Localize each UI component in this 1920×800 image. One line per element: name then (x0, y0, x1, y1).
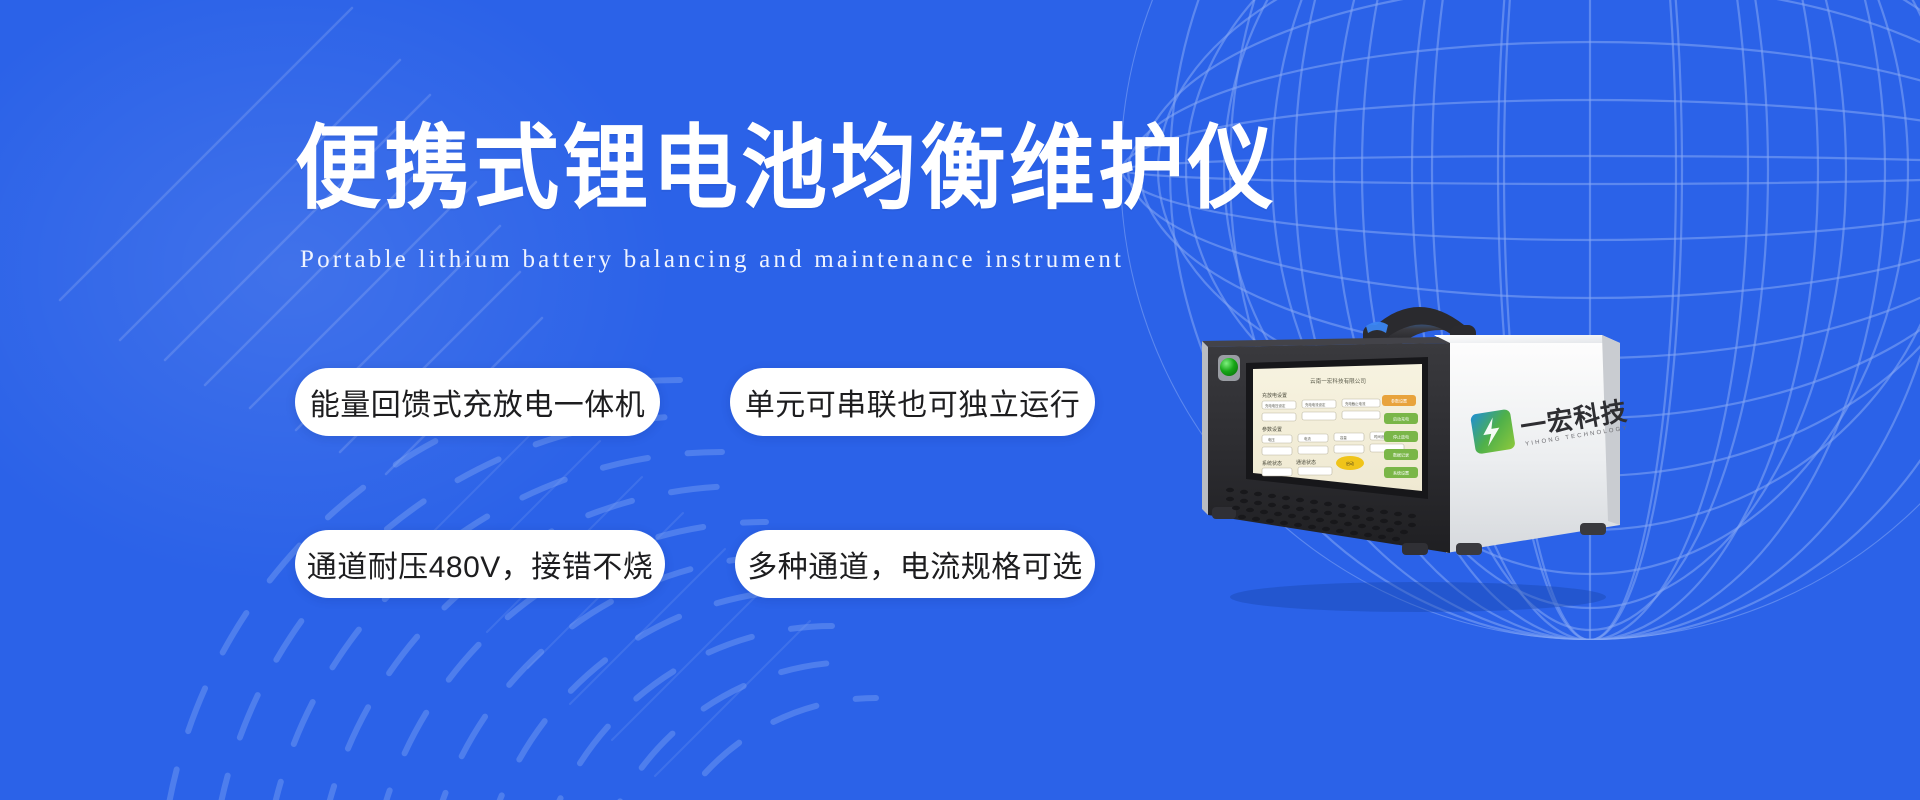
feature-pill[interactable]: 单元可串联也可独立运行 (730, 368, 1095, 436)
device-illustration: 一宏科技 YIHONG TECHNOLOGY (1150, 285, 1670, 625)
feature-pill-row: 能量回馈式充放电一体机 单元可串联也可独立运行 (295, 368, 1095, 436)
svg-text:充电电压设定: 充电电压设定 (1265, 403, 1286, 408)
screen-group-label: 参数设置 (1262, 426, 1282, 433)
power-indicator[interactable] (1218, 355, 1240, 381)
svg-text:电压: 电压 (1268, 437, 1275, 442)
screen-action-button[interactable]: 启动 (1336, 456, 1364, 470)
screen-header: 云南一宏科技有限公司 (1310, 377, 1366, 385)
svg-text:通道状态: 通道状态 (1296, 459, 1316, 466)
product-device-image: 一宏科技 YIHONG TECHNOLOGY (1150, 285, 1670, 625)
svg-text:参数设置: 参数设置 (1391, 398, 1407, 404)
page-title: 便携式锂电池均衡维护仪 (295, 120, 1277, 218)
feature-pill-row: 通道耐压480V，接错不烧 多种通道，电流规格可选 (295, 530, 1095, 598)
hero-banner: 便携式锂电池均衡维护仪 Portable lithium battery bal… (0, 0, 1920, 800)
svg-text:数据记录: 数据记录 (1393, 452, 1409, 458)
feature-pill-list: 能量回馈式充放电一体机 单元可串联也可独立运行 通道耐压480V，接错不烧 多种… (295, 368, 1095, 692)
device-touchscreen[interactable]: 云南一宏科技有限公司 充放电设置 充电电压设定 充电电流设定 充电截止电流 (1246, 357, 1428, 499)
screen-group-label: 充放电设置 (1262, 392, 1287, 399)
screen-group-label: 系统状态 (1262, 460, 1282, 467)
svg-text:启动: 启动 (1346, 460, 1354, 466)
svg-text:系统设置: 系统设置 (1393, 470, 1409, 476)
svg-text:充电电流设定: 充电电流设定 (1305, 402, 1326, 407)
svg-text:电流: 电流 (1304, 436, 1311, 441)
svg-text:停止放电: 停止放电 (1393, 434, 1409, 440)
device-shadow (1230, 582, 1606, 612)
feature-pill[interactable]: 能量回馈式充放电一体机 (295, 368, 660, 436)
svg-text:容量: 容量 (1340, 435, 1347, 440)
page-subtitle: Portable lithium battery balancing and m… (300, 245, 1124, 275)
svg-text:充电截止电流: 充电截止电流 (1345, 401, 1366, 406)
svg-text:启动充电: 启动充电 (1393, 416, 1409, 422)
feature-pill[interactable]: 多种通道，电流规格可选 (735, 530, 1095, 598)
feature-pill[interactable]: 通道耐压480V，接错不烧 (295, 530, 665, 598)
